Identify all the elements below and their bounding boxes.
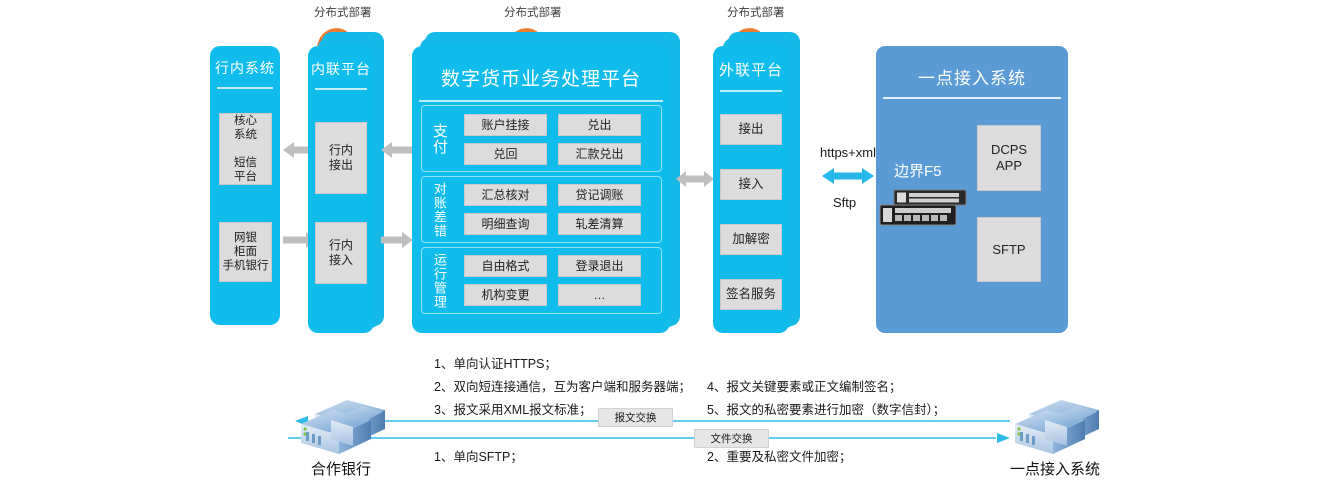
divider bbox=[883, 97, 1061, 99]
f5-boundary-label: 边界F5 bbox=[894, 160, 942, 181]
bottom-note-sftp-1: 1、单向SFTP； bbox=[434, 446, 523, 465]
label-message-exchange: 报文交换 bbox=[598, 408, 673, 427]
bottom-note-1: 1、单向认证HTTPS； bbox=[434, 353, 557, 372]
chip-core-system[interactable]: 核心 系统 短信 平台 bbox=[219, 113, 272, 185]
divider bbox=[720, 90, 782, 92]
panel-external-platform-title: 外联平台 bbox=[713, 59, 789, 80]
link-label-https-xml: https+xml bbox=[820, 145, 876, 160]
caption-access-system-bottom: 一点接入系统 bbox=[1000, 458, 1110, 479]
panel-intranet-platform-title: 内联平台 bbox=[308, 59, 374, 79]
chip-intranet-inbound[interactable]: 行内 接入 bbox=[315, 222, 367, 284]
panel-bank-internal: 行内系统 bbox=[210, 46, 280, 325]
arrow-dcep-to-external-icon bbox=[676, 170, 714, 188]
bottom-note-sftp-2: 2、重要及私密文件加密； bbox=[707, 446, 851, 465]
architecture-diagram: 分布式部署 分布式部署 分布式部署 行内系统 核心 系统 短信 平台 网银 柜面… bbox=[0, 0, 1333, 483]
chip-remittance-out[interactable]: 汇款兑出 bbox=[558, 143, 641, 165]
bottom-note-2: 2、双向短连接通信，互为客户端和服务器端； bbox=[434, 376, 691, 395]
caption-partner-bank: 合作银行 bbox=[293, 458, 389, 479]
server-icon-partner-bank bbox=[293, 398, 389, 456]
panel-bank-internal-title: 行内系统 bbox=[210, 58, 280, 78]
chip-more[interactable]: … bbox=[558, 284, 641, 306]
panel-access-system-title: 一点接入系统 bbox=[876, 64, 1068, 89]
chip-free-format[interactable]: 自由格式 bbox=[464, 255, 547, 277]
f5-appliance-icon bbox=[880, 190, 970, 230]
chip-ext-encryption[interactable]: 加解密 bbox=[720, 224, 782, 255]
chip-intranet-outbound[interactable]: 行内 接出 bbox=[315, 122, 367, 194]
bottom-note-4: 4、报文关键要素或正文编制签名； bbox=[707, 376, 901, 395]
group-label-reconciliation: 对账差错 bbox=[426, 179, 452, 240]
divider bbox=[315, 88, 367, 90]
chip-ext-outbound[interactable]: 接出 bbox=[720, 114, 782, 145]
chip-login-logout[interactable]: 登录退出 bbox=[558, 255, 641, 277]
chip-ext-signature[interactable]: 签名服务 bbox=[720, 279, 782, 310]
panel-dcep-title: 数字货币业务处理平台 bbox=[412, 64, 670, 91]
chip-summary-check[interactable]: 汇总核对 bbox=[464, 184, 547, 206]
flow-line-file-exchange bbox=[288, 432, 1010, 444]
link-label-sftp: Sftp bbox=[833, 195, 856, 210]
arrow-external-to-access-icon bbox=[822, 166, 874, 186]
chip-account-link[interactable]: 账户挂接 bbox=[464, 114, 547, 136]
chip-ebank-counter-mobile[interactable]: 网银 柜面 手机银行 bbox=[219, 222, 272, 282]
group-label-operations: 运行管理 bbox=[426, 250, 452, 311]
arrow-intranet-to-dcep-out-icon bbox=[381, 142, 413, 158]
chip-credit-adjust[interactable]: 贷记调账 bbox=[558, 184, 641, 206]
chip-exchange-out[interactable]: 兑出 bbox=[558, 114, 641, 136]
divider bbox=[217, 87, 273, 89]
group-label-payment: 支付 bbox=[426, 108, 452, 169]
arrow-intranet-to-dcep-in-icon bbox=[381, 232, 413, 248]
chip-sftp[interactable]: SFTP bbox=[977, 217, 1041, 282]
server-icon-access-system bbox=[1007, 398, 1103, 456]
chip-exchange-back[interactable]: 兑回 bbox=[464, 143, 547, 165]
chip-org-change[interactable]: 机构变更 bbox=[464, 284, 547, 306]
chip-netting-settlement[interactable]: 轧差清算 bbox=[558, 213, 641, 235]
chip-ext-inbound[interactable]: 接入 bbox=[720, 169, 782, 200]
chip-detail-query[interactable]: 明细查询 bbox=[464, 213, 547, 235]
chip-dcps-app[interactable]: DCPS APP bbox=[977, 125, 1041, 191]
divider bbox=[419, 100, 663, 102]
